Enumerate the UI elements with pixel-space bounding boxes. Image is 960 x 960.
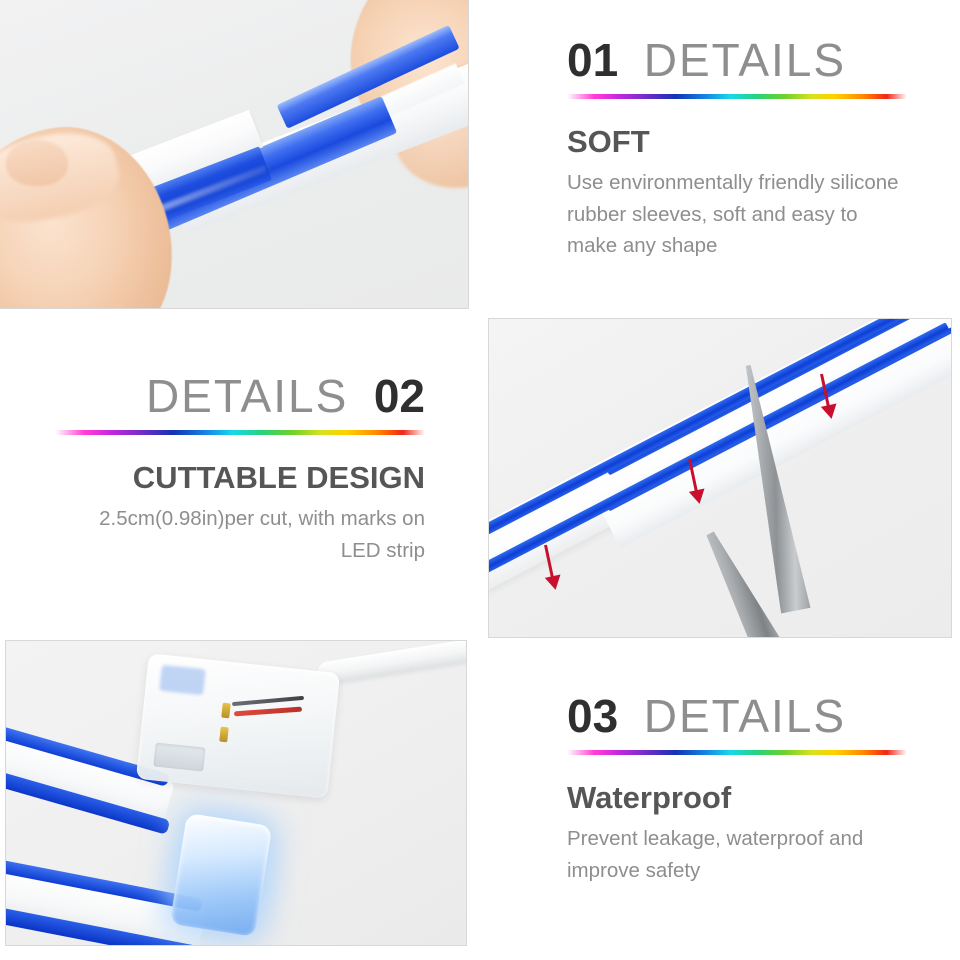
section-03-title: Waterproof (567, 781, 907, 815)
connector-pin (221, 703, 231, 719)
section-02-number: 02 (374, 370, 425, 422)
section-03-heading: 03 DETAILS (567, 692, 907, 740)
connector-photo (5, 640, 467, 946)
section-01-label: DETAILS (644, 34, 846, 86)
twist-photo (0, 0, 469, 309)
rainbow-divider (567, 750, 907, 755)
infographic-page: 01 DETAILS SOFT Use environmentally frie… (0, 0, 960, 960)
section-02-title: CUTTABLE DESIGN (55, 461, 425, 495)
section-03-body: Prevent leakage, waterproof and improve … (567, 823, 907, 885)
section-02-text: DETAILS 02 CUTTABLE DESIGN 2.5cm(0.98in)… (55, 372, 425, 566)
section-03-number: 03 (567, 690, 618, 742)
section-01-text: 01 DETAILS SOFT Use environmentally frie… (567, 36, 907, 261)
fingertip-bottom-left (6, 140, 68, 186)
power-lead-cable (316, 640, 467, 685)
section-01-title: SOFT (567, 125, 907, 159)
section-02-heading: DETAILS 02 (55, 372, 425, 420)
section-01-body: Use environmentally friendly silicone ru… (567, 167, 907, 260)
section-01-number: 01 (567, 34, 618, 86)
illuminated-end-cap (170, 813, 272, 937)
rainbow-divider (55, 430, 425, 435)
connector-pin (219, 727, 229, 743)
section-02-label: DETAILS (146, 370, 348, 422)
section-02-body: 2.5cm(0.98in)per cut, with marks on LED … (55, 503, 425, 565)
cut-photo (488, 318, 952, 638)
rainbow-divider (567, 94, 907, 99)
waterproof-connector (136, 653, 340, 798)
hand-bottom-left (0, 109, 192, 309)
section-01-heading: 01 DETAILS (567, 36, 907, 84)
section-03-label: DETAILS (644, 690, 846, 742)
section-03-text: 03 DETAILS Waterproof Prevent leakage, w… (567, 692, 907, 886)
